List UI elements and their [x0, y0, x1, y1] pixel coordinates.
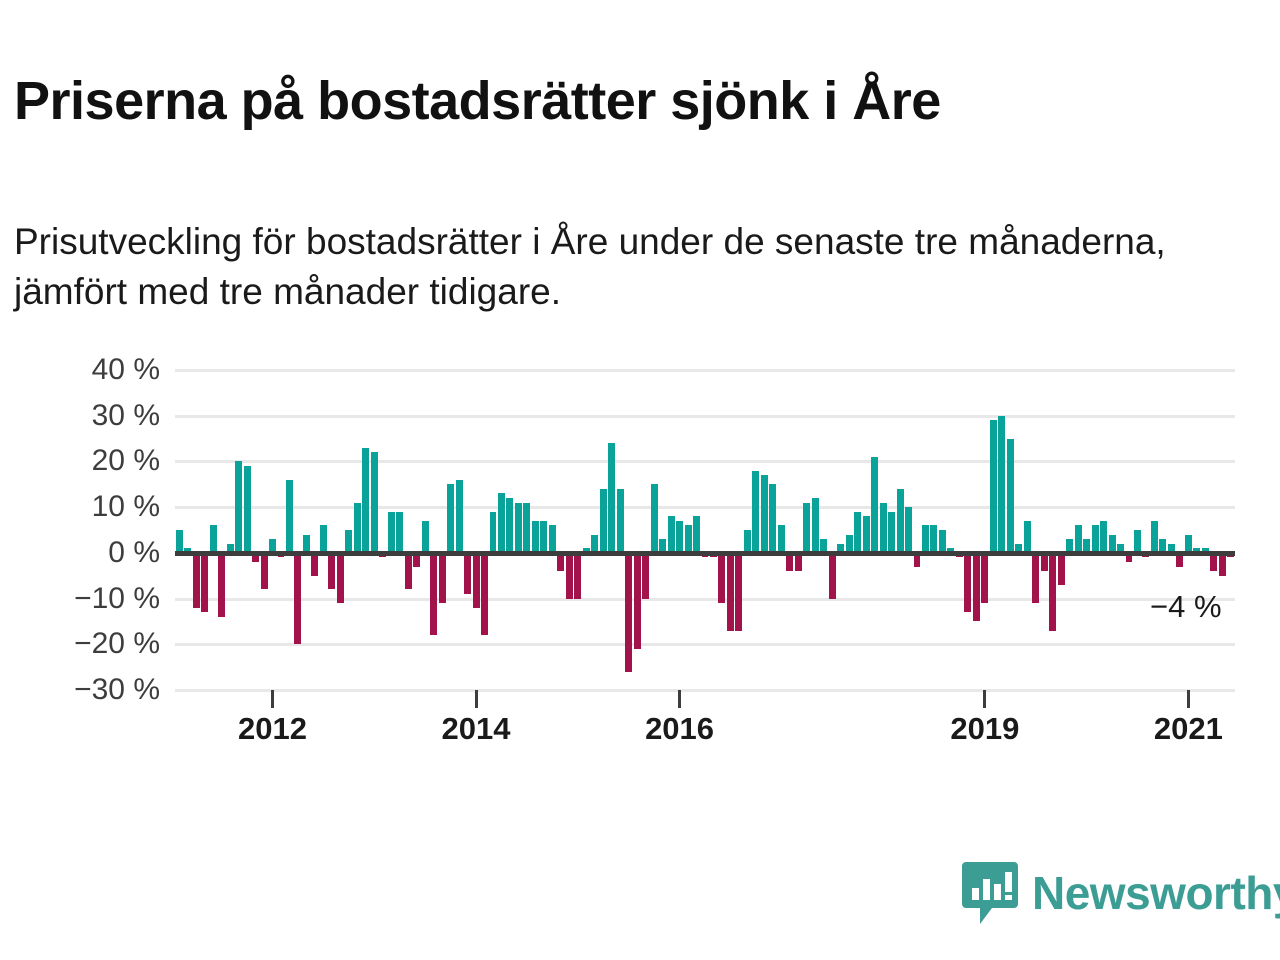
- bar: [744, 530, 751, 553]
- y-axis-tick-label: 20 %: [0, 446, 160, 476]
- y-axis-tick-label: 30 %: [0, 401, 160, 431]
- bar: [371, 452, 378, 553]
- bar: [973, 553, 980, 622]
- newsworthy-logo[interactable]: Newsworthy: [962, 860, 1280, 926]
- bar: [693, 516, 700, 553]
- bar: [540, 521, 547, 553]
- bar: [210, 525, 217, 552]
- bar: [439, 553, 446, 603]
- bar: [1058, 553, 1065, 585]
- bar: [939, 530, 946, 553]
- bar: [625, 553, 632, 672]
- bar: [473, 553, 480, 608]
- bar: [1092, 525, 1099, 552]
- bar: [735, 553, 742, 631]
- bar: [905, 507, 912, 553]
- bar: [1100, 521, 1107, 553]
- bar: [447, 484, 454, 553]
- bar: [396, 512, 403, 553]
- bar: [456, 480, 463, 553]
- x-axis-tick-label: 2012: [238, 712, 307, 746]
- x-axis-tick: [475, 690, 478, 708]
- bar: [320, 525, 327, 552]
- bar: [880, 503, 887, 553]
- y-axis-tick-label: 10 %: [0, 492, 160, 522]
- x-axis: 2012201420162019202120232025: [175, 690, 1235, 750]
- bar-chart-speech-bubble-icon: [962, 860, 1018, 926]
- bar: [464, 553, 471, 594]
- bar: [362, 448, 369, 553]
- bar: [863, 516, 870, 553]
- bar: [481, 553, 488, 635]
- bar: [354, 503, 361, 553]
- bar: [685, 525, 692, 552]
- x-axis-tick-label: 2016: [645, 712, 714, 746]
- bar: [600, 489, 607, 553]
- x-axis-tick-label: 2019: [950, 712, 1019, 746]
- bar: [523, 503, 530, 553]
- bar: [668, 516, 675, 553]
- bar: [218, 553, 225, 617]
- bar: [990, 420, 997, 553]
- bar: [1032, 553, 1039, 603]
- y-axis-tick-label: −20 %: [0, 629, 160, 659]
- bar: [532, 521, 539, 553]
- x-axis-tick-label: 2014: [442, 712, 511, 746]
- bar: [515, 503, 522, 553]
- bar: [1075, 525, 1082, 552]
- bar: [871, 457, 878, 553]
- bar: [422, 521, 429, 553]
- bar: [345, 530, 352, 553]
- zero-axis-line: [175, 551, 1235, 556]
- bar: [286, 480, 293, 553]
- bar: [718, 553, 725, 603]
- bar: [651, 484, 658, 553]
- bar: [812, 498, 819, 553]
- bar: [727, 553, 734, 631]
- bar: [829, 553, 836, 599]
- y-axis-tick-label: −30 %: [0, 675, 160, 705]
- bar: [193, 553, 200, 608]
- bar: [337, 553, 344, 603]
- bar: [803, 503, 810, 553]
- bar: [854, 512, 861, 553]
- bar: [981, 553, 988, 603]
- chart-page: Priserna på bostadsrätter sjönk i Åre Pr…: [0, 0, 1280, 960]
- bar: [328, 553, 335, 590]
- bar: [201, 553, 208, 612]
- bar: [574, 553, 581, 599]
- bar: [608, 443, 615, 553]
- bar: [1049, 553, 1056, 631]
- bar: [549, 525, 556, 552]
- bar: [490, 512, 497, 553]
- bar: [761, 475, 768, 553]
- bar: [1024, 521, 1031, 553]
- bar: [769, 484, 776, 553]
- bar: [294, 553, 301, 644]
- bar: [642, 553, 649, 599]
- bar: [1219, 553, 1226, 576]
- bar: [778, 525, 785, 552]
- y-axis-labels: 40 %30 %20 %10 %0 %−10 %−20 %−30 %: [0, 370, 160, 690]
- bar: [676, 521, 683, 553]
- last-value-annotation: −4 %: [1150, 591, 1222, 622]
- bar: [930, 525, 937, 552]
- bar: [998, 416, 1005, 553]
- bar: [566, 553, 573, 599]
- y-axis-tick-label: 0 %: [0, 538, 160, 568]
- bar: [964, 553, 971, 612]
- bar: [1134, 530, 1141, 553]
- bar: [261, 553, 268, 590]
- bar: [506, 498, 513, 553]
- bar: [922, 525, 929, 552]
- bar: [752, 471, 759, 553]
- x-axis-tick: [1187, 690, 1190, 708]
- bar: [405, 553, 412, 590]
- bar: [1151, 521, 1158, 553]
- bar: [888, 512, 895, 553]
- y-axis-tick-label: 40 %: [0, 355, 160, 385]
- x-axis-tick-label: 2021: [1154, 712, 1223, 746]
- bar: [235, 461, 242, 552]
- y-axis-tick-label: −10 %: [0, 584, 160, 614]
- page-subtitle: Prisutveckling för bostadsrätter i Åre u…: [14, 217, 1254, 317]
- plot-area: [175, 370, 1235, 690]
- bar-chart: 40 %30 %20 %10 %0 %−10 %−20 %−30 % 20122…: [0, 345, 1280, 745]
- bar: [617, 489, 624, 553]
- bar-series: [175, 370, 1235, 690]
- x-axis-tick: [271, 690, 274, 708]
- brand-name: Newsworthy: [1032, 870, 1280, 916]
- bar: [430, 553, 437, 635]
- bar: [1007, 439, 1014, 553]
- bar: [634, 553, 641, 649]
- bar: [311, 553, 318, 576]
- bar: [388, 512, 395, 553]
- page-title: Priserna på bostadsrätter sjönk i Åre: [14, 70, 1244, 132]
- bar: [176, 530, 183, 553]
- x-axis-tick: [678, 690, 681, 708]
- bar: [498, 493, 505, 552]
- bar: [897, 489, 904, 553]
- x-axis-tick: [983, 690, 986, 708]
- bar: [244, 466, 251, 553]
